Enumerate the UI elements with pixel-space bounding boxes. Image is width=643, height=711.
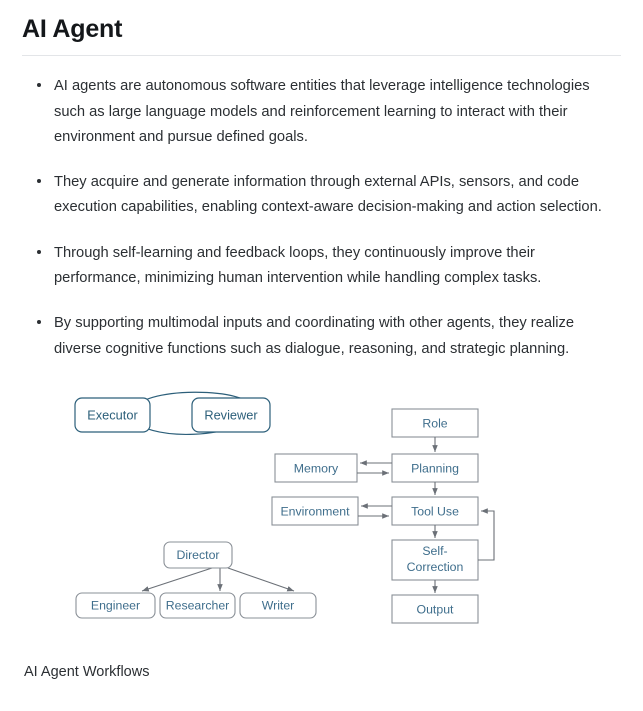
bullet-dot-icon (37, 179, 41, 183)
node-environment-label: Environment (280, 504, 350, 518)
node-reviewer-label: Reviewer (204, 407, 258, 422)
executor-reviewer-loop: Executor Reviewer (75, 392, 270, 434)
ai-agent-workflow-diagram: Executor Reviewer Role Planning Tool Use (22, 380, 621, 640)
list-item: By supporting multimodal inputs and coor… (22, 311, 621, 362)
node-planning-label: Planning (411, 461, 459, 475)
environment-group: Environment (272, 497, 392, 525)
page-title: AI Agent (22, 0, 621, 45)
node-executor-label: Executor (87, 407, 138, 422)
node-role-label: Role (422, 416, 447, 430)
memory-group: Memory (275, 454, 392, 482)
agent-pipeline: Role Planning Tool Use Self- Correction (392, 409, 494, 623)
arrow-selfcorrection-feedback-to-tooluse (478, 511, 494, 560)
list-item-text: Through self-learning and feedback loops… (54, 245, 541, 286)
list-item: They acquire and generate information th… (22, 170, 621, 221)
node-tool-use-label: Tool Use (411, 504, 459, 518)
arrow-director-to-writer (228, 568, 294, 591)
figure: Executor Reviewer Role Planning Tool Use (22, 380, 621, 680)
bullet-dot-icon (37, 83, 41, 87)
bullet-list: AI agents are autonomous software entiti… (22, 74, 621, 362)
node-memory-label: Memory (294, 461, 339, 475)
list-item-text: AI agents are autonomous software entiti… (54, 78, 590, 145)
list-item: Through self-learning and feedback loops… (22, 241, 621, 292)
node-director-label: Director (176, 548, 219, 562)
bullet-dot-icon (37, 320, 41, 324)
arrow-director-to-engineer (142, 568, 212, 591)
node-engineer-label: Engineer (91, 598, 140, 612)
list-item-text: They acquire and generate information th… (54, 174, 602, 215)
node-writer-label: Writer (262, 598, 295, 612)
node-self-correction-label-line1: Self- (422, 544, 447, 558)
title-divider (22, 55, 621, 56)
node-researcher-label: Researcher (166, 598, 230, 612)
list-item-text: By supporting multimodal inputs and coor… (54, 315, 574, 356)
list-item: AI agents are autonomous software entiti… (22, 74, 621, 150)
document-page: AI Agent AI agents are autonomous softwa… (0, 0, 643, 680)
figure-caption: AI Agent Workflows (22, 664, 621, 680)
node-self-correction-label-line2: Correction (407, 560, 464, 574)
director-tree: Director Engineer Researcher Writer (76, 542, 316, 618)
node-output-label: Output (417, 602, 454, 616)
bullet-dot-icon (37, 250, 41, 254)
